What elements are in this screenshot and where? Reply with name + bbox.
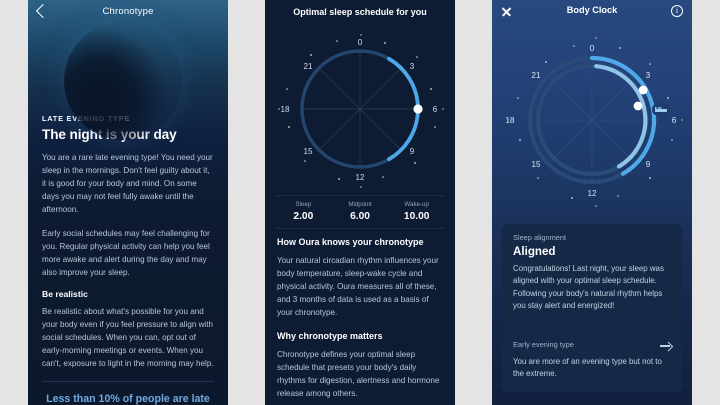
sleep-alignment-text: Congratulations! Last night, your sleep … — [513, 263, 671, 313]
chronotype-summary-card[interactable]: Early evening type You are more of an ev… — [502, 331, 682, 392]
chronotype-summary-label: Early evening type — [513, 340, 574, 349]
sleep-alignment-card: Sleep alignment Aligned Congratulations!… — [502, 224, 682, 324]
chronotype-panel: Chronotype LATE EVENING TYPE The night i… — [28, 0, 228, 405]
chronotype-paragraph-1: You are a rare late evening type! You ne… — [42, 151, 214, 217]
chronotype-summary-header: Early evening type — [513, 340, 671, 352]
stat-midpoint-value: 6.00 — [332, 211, 389, 222]
tick-label-6: 6 — [672, 116, 677, 125]
sleep-alignment-label: Sleep alignment — [513, 233, 671, 242]
section-divider — [42, 381, 214, 382]
body-clock-panel: Body Clock i — [492, 0, 692, 405]
body-clock-svg: 0 3 6 9 12 15 18 21 — [492, 24, 692, 220]
tick-label-12: 12 — [356, 173, 365, 182]
clock-spokes — [532, 60, 652, 180]
optimal-marker[interactable] — [639, 86, 648, 95]
tick-label-21: 21 — [304, 62, 313, 71]
stat-wakeup-value: 10.00 — [388, 211, 445, 222]
page-title: Chronotype — [28, 6, 228, 17]
tick-label-21: 21 — [532, 71, 541, 80]
tick-label-15: 15 — [304, 147, 313, 156]
tick-label-12: 12 — [588, 189, 597, 198]
actual-marker[interactable] — [634, 102, 643, 111]
body-clock-dial[interactable]: 0 3 6 9 12 15 18 21 — [492, 24, 692, 220]
stat-wakeup: Wake-up 10.00 — [388, 201, 445, 222]
tick-label-9: 9 — [646, 160, 651, 169]
how-oura-knows-text: Your natural circadian rhythm influences… — [277, 254, 443, 320]
be-realistic-heading: Be realistic — [42, 289, 214, 299]
info-icon[interactable]: i — [671, 5, 683, 17]
planet-illustration — [28, 26, 228, 108]
bed-icon[interactable] — [652, 103, 670, 116]
stat-midpoint: Midpoint 6.00 — [332, 201, 389, 222]
body-clock-title: Body Clock — [492, 5, 692, 15]
stat-sleep-label: Sleep — [275, 201, 332, 208]
planet-icon — [64, 22, 182, 140]
tick-label-18: 18 — [506, 116, 515, 125]
why-chronotype-heading: Why chronotype matters — [277, 331, 443, 341]
how-oura-knows-heading: How Oura knows your chronotype — [277, 237, 443, 247]
panel2-content: How Oura knows your chronotype Your natu… — [265, 229, 455, 405]
sleep-clock-svg: 0 3 6 9 12 15 18 21 — [265, 23, 455, 195]
tick-label-9: 9 — [410, 147, 415, 156]
stat-sleep-value: 2.00 — [275, 211, 332, 222]
sleep-clock-dial[interactable]: 0 3 6 9 12 15 18 21 — [265, 23, 455, 195]
tick-label-6: 6 — [433, 105, 438, 114]
stat-sleep: Sleep 2.00 — [275, 201, 332, 222]
stat-midpoint-label: Midpoint — [332, 201, 389, 208]
arrow-right-icon[interactable] — [660, 340, 671, 351]
tick-label-0: 0 — [590, 44, 595, 53]
panel3-header: Body Clock i — [492, 0, 692, 24]
tick-label-18: 18 — [281, 105, 290, 114]
sleep-alignment-status: Aligned — [513, 245, 671, 258]
chronotype-paragraph-3: Be realistic about what's possible for y… — [42, 305, 214, 371]
screenshot-stage: Chronotype LATE EVENING TYPE The night i… — [0, 0, 720, 405]
optimal-sleep-panel: Optimal sleep schedule for you — [265, 0, 455, 405]
chronotype-summary-text: You are more of an evening type but not … — [513, 356, 671, 381]
tick-label-3: 3 — [410, 62, 415, 71]
midpoint-marker[interactable] — [413, 104, 422, 113]
optimal-sleep-title: Optimal sleep schedule for you — [265, 0, 455, 23]
sleep-stats-row: Sleep 2.00 Midpoint 6.00 Wake-up 10.00 — [275, 195, 445, 229]
chronotype-footnote: Less than 10% of people are late evening… — [42, 392, 214, 405]
tick-label-15: 15 — [532, 160, 541, 169]
tick-label-3: 3 — [646, 71, 651, 80]
stat-wakeup-label: Wake-up — [388, 201, 445, 208]
panel1-content: LATE EVENING TYPE The night is your day … — [28, 108, 228, 405]
tick-label-0: 0 — [358, 38, 363, 47]
chronotype-paragraph-2: Early social schedules may feel challeng… — [42, 227, 214, 279]
why-chronotype-text: Chronotype defines your optimal sleep sc… — [277, 348, 443, 400]
